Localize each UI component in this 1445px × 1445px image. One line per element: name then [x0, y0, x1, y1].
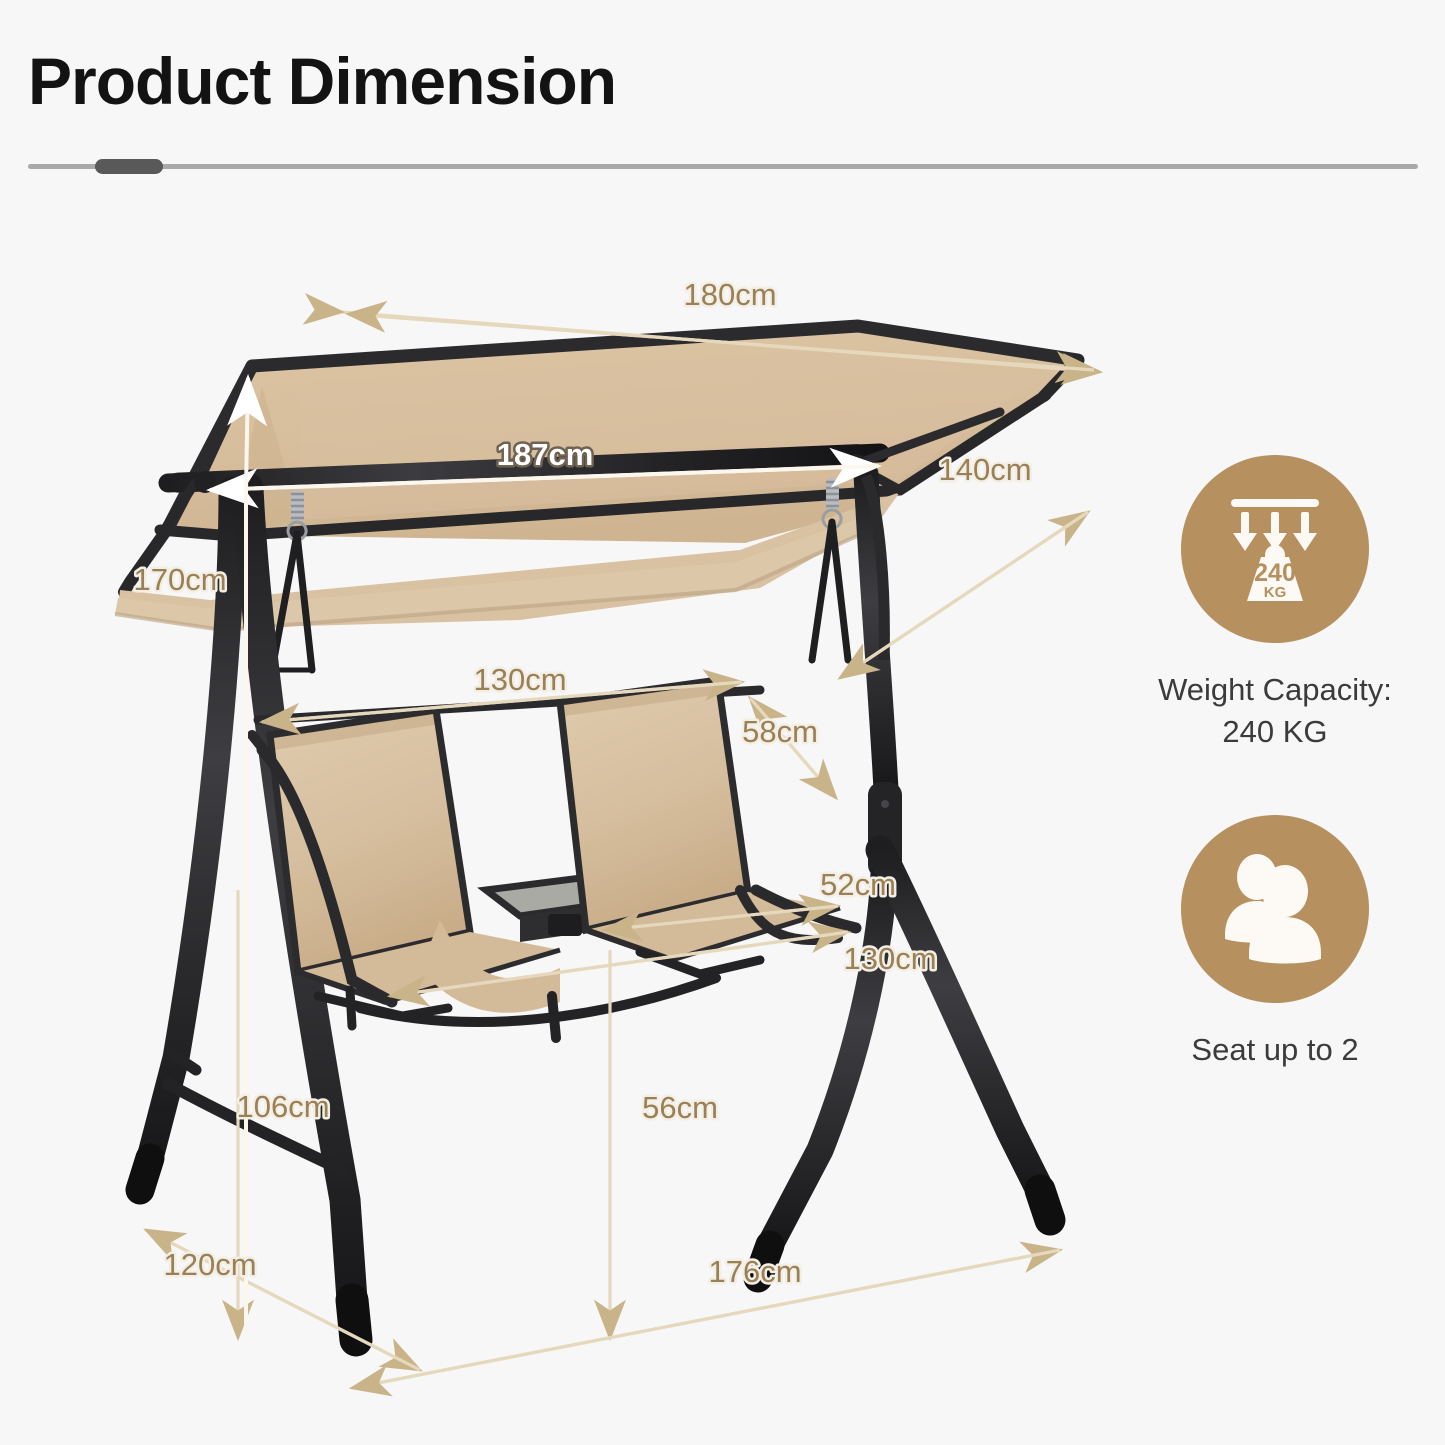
feature-seat-capacity: Seat up to 2	[1120, 815, 1430, 1071]
header-divider	[28, 164, 1418, 169]
feature-list: 240 KG Weight Capacity: 240 KG Seat up t…	[1120, 455, 1430, 1071]
header-divider-accent	[95, 159, 163, 174]
weight-badge-value: 240	[1254, 559, 1296, 587]
foot-right-rear	[1040, 1190, 1050, 1220]
weight-badge-unit: KG	[1264, 584, 1287, 601]
seat-capacity-label: Seat up to 2	[1191, 1029, 1358, 1071]
leg-right-front	[770, 874, 884, 1245]
foot-left-front	[140, 1158, 150, 1190]
seat-left	[252, 710, 560, 1016]
weight-capacity-label: Weight Capacity: 240 KG	[1158, 669, 1392, 753]
feature-weight-capacity: 240 KG Weight Capacity: 240 KG	[1120, 455, 1430, 753]
dimlabel-canopy-depth: 140cm	[938, 452, 1031, 487]
dimlabel-seat-height: 56cm	[642, 1090, 718, 1125]
dimlabel-base-width: 176cm	[708, 1254, 801, 1289]
two-people-icon	[1181, 815, 1369, 1003]
dimlabel-overall-height: 170cm	[133, 562, 226, 597]
weight-capacity-icon: 240 KG	[1181, 455, 1369, 643]
product-dimension-page: Product Dimension	[0, 0, 1445, 1445]
dimlabel-seat-depth: 52cm	[820, 867, 896, 902]
dimlabel-backrest-width: 130cm	[473, 662, 566, 697]
dimlabel-backrest-height: 58cm	[742, 714, 818, 749]
page-title: Product Dimension	[28, 48, 616, 114]
dimlabel-seat-width: 130cm	[843, 941, 936, 976]
dimlabel-canopy-width: 180cm	[683, 277, 776, 312]
leg-right-rear	[880, 850, 1040, 1190]
dimlabel-canopy-bar-width: 187cm	[497, 437, 594, 472]
dimlabel-frame-height: 106cm	[236, 1089, 329, 1124]
dimlabel-base-depth: 120cm	[163, 1247, 256, 1282]
product-illustration: 180cm 187cm 140cm 170cm 130cm 58cm 52cm …	[0, 190, 1120, 1440]
dimline-overall-height-upper	[246, 378, 248, 490]
seat-center-post	[552, 996, 556, 1038]
